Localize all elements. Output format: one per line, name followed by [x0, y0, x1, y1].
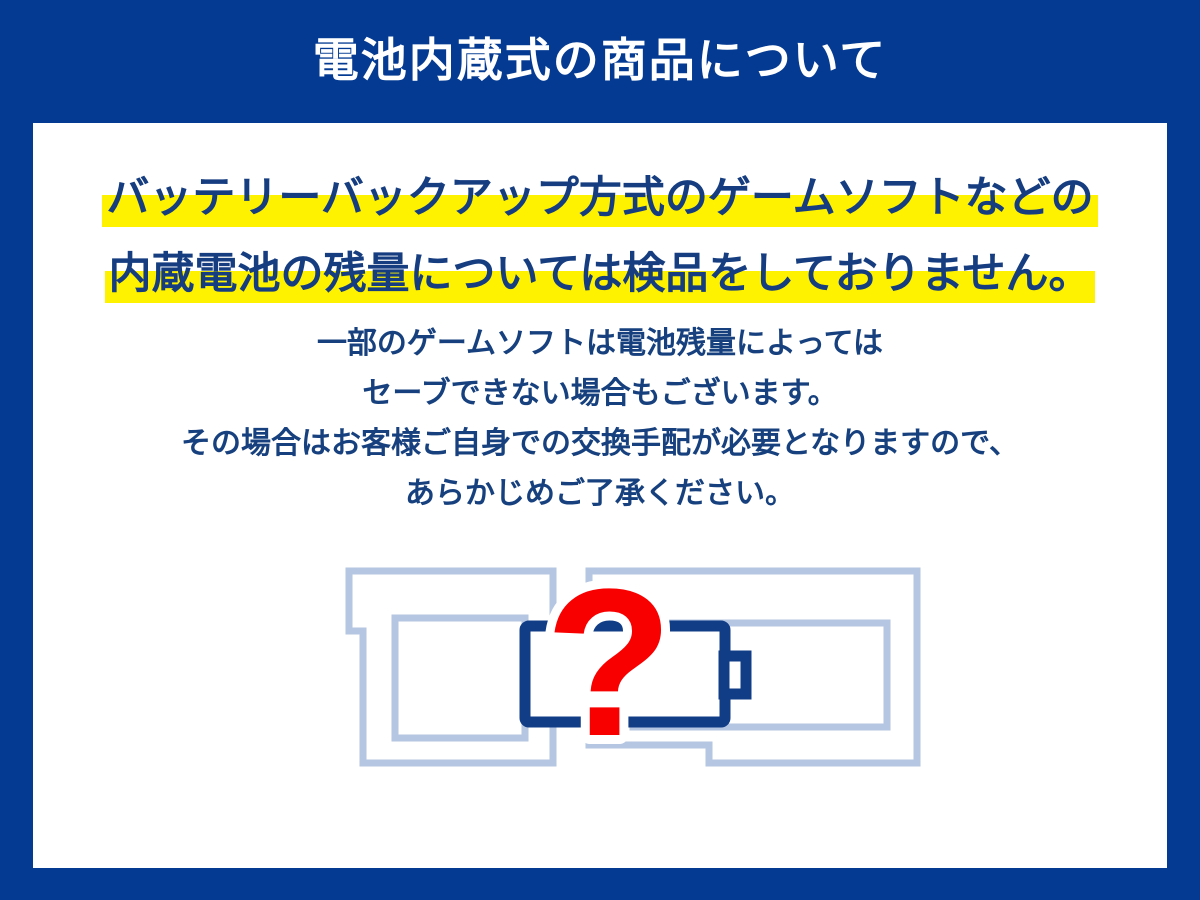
headline-line-1: バッテリーバックアップ方式のゲームソフトなどの	[33, 167, 1167, 229]
body-line-2: セーブできない場合もございます。	[33, 369, 1167, 419]
headline-highlight-2: 内蔵電池の残量については検品をしておりません。	[105, 243, 1096, 305]
svg-text:?: ?	[545, 553, 673, 780]
content-card: バッテリーバックアップ方式のゲームソフトなどの 内蔵電池の残量については検品をし…	[33, 123, 1167, 868]
headline-highlight-1: バッテリーバックアップ方式のゲームソフトなどの	[102, 167, 1097, 229]
question-mark-icon: ? ?	[545, 553, 673, 780]
page-title: 電池内蔵式の商品について	[313, 37, 888, 83]
body-line-1: 一部のゲームソフトは電池残量によっては	[33, 319, 1167, 369]
body-line-4: あらかじめご了承ください。	[33, 469, 1167, 519]
illustration-group: ? ?	[303, 553, 963, 783]
headline-block: バッテリーバックアップ方式のゲームソフトなどの 内蔵電池の残量については検品をし…	[33, 167, 1167, 305]
body-line-3: その場合はお客様ご自身での交換手配が必要となりますので、	[33, 419, 1167, 469]
header-banner: 電池内蔵式の商品について	[0, 0, 1200, 123]
poster-root: 電池内蔵式の商品について バッテリーバックアップ方式のゲームソフトなどの 内蔵電…	[0, 0, 1200, 900]
body-paragraph: 一部のゲームソフトは電池残量によっては セーブできない場合もございます。 その場…	[33, 319, 1167, 519]
headline-line-2: 内蔵電池の残量については検品をしておりません。	[33, 243, 1167, 305]
